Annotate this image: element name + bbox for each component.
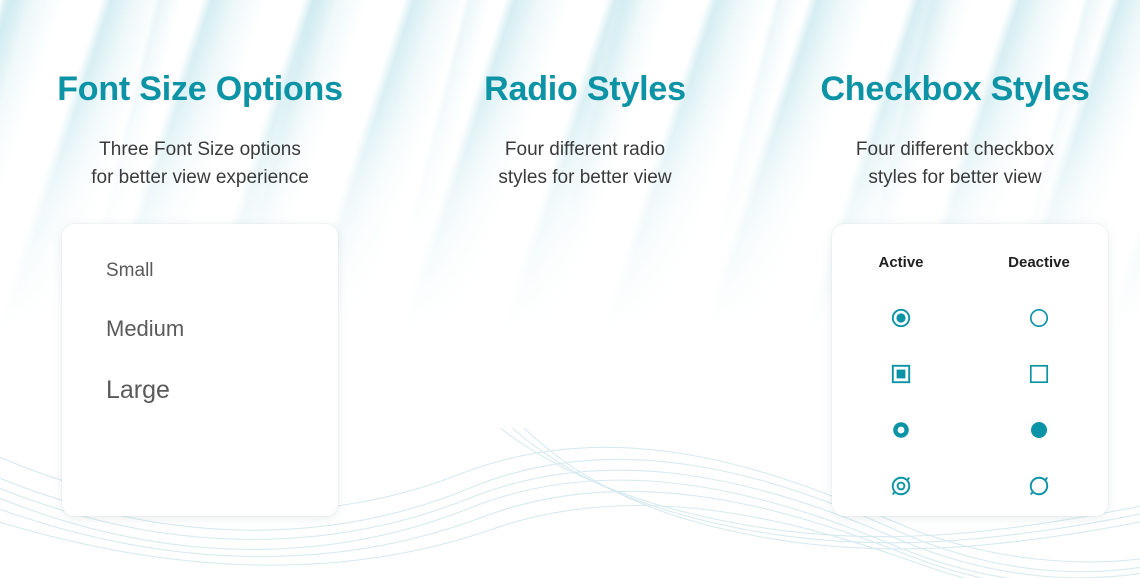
columns-container: Font Size Options Three Font Size option… <box>0 0 1140 578</box>
column-font-size: Font Size Options Three Font Size option… <box>0 0 400 578</box>
subtitle-font-size: Three Font Size options for better view … <box>0 136 400 192</box>
font-size-option-list: Small Medium Large <box>106 260 184 429</box>
column-radio-styles: Radio Styles Four different radio styles… <box>400 0 770 578</box>
subtitle-line-1: Four different radio <box>400 136 770 164</box>
column-checkbox-styles: Checkbox Styles Four different checkbox … <box>770 0 1140 578</box>
subtitle-line-1: Three Font Size options <box>0 136 400 164</box>
page-title-radio-styles: Radio Styles <box>400 70 770 109</box>
font-size-option-large[interactable]: Large <box>106 376 184 405</box>
page-title-checkbox-styles: Checkbox Styles <box>770 70 1140 109</box>
subtitle-line-1: Four different checkbox <box>770 136 1140 164</box>
subtitle-radio-styles: Four different radio styles for better v… <box>400 136 770 192</box>
page-root: Font Size Options Three Font Size option… <box>0 0 1140 578</box>
page-title-font-size: Font Size Options <box>0 70 400 109</box>
subtitle-line-2: styles for better view <box>770 164 1140 192</box>
font-size-option-medium[interactable]: Medium <box>106 316 184 342</box>
subtitle-checkbox-styles: Four different checkbox styles for bette… <box>770 136 1140 192</box>
subtitle-line-2: for better view experience <box>0 164 400 192</box>
subtitle-line-2: styles for better view <box>400 164 770 192</box>
font-size-option-small[interactable]: Small <box>106 260 184 282</box>
card-font-size-options: Small Medium Large <box>62 224 338 516</box>
